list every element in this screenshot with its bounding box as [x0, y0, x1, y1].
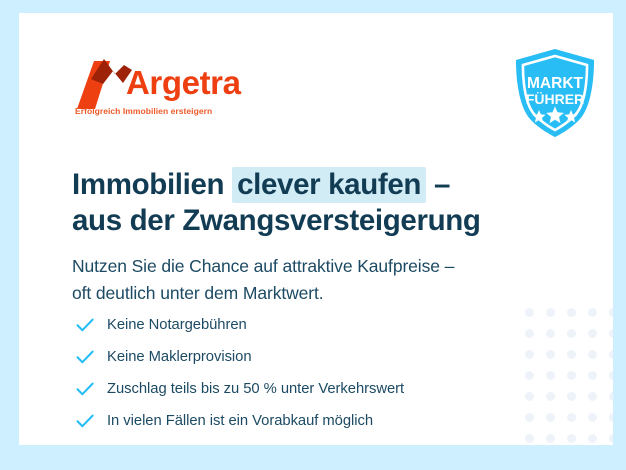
- list-item: Zuschlag teils bis zu 50 % unter Verkehr…: [74, 373, 534, 405]
- headline-line-2: aus der Zwangsversteigerung: [72, 203, 552, 239]
- dot-grid-decoration: [525, 308, 613, 445]
- decoration-dot: [609, 329, 613, 338]
- logo-tagline: Erfolgreich Immobilien ersteigern: [75, 106, 212, 116]
- logo-wordmark: Argetra: [126, 66, 241, 99]
- decoration-dot: [588, 308, 597, 317]
- decoration-dot: [567, 371, 576, 380]
- decoration-dot: [546, 392, 555, 401]
- decoration-dot: [588, 350, 597, 359]
- decoration-dot: [567, 329, 576, 338]
- decoration-dot: [567, 434, 576, 443]
- decoration-dot: [546, 413, 555, 422]
- list-item-label: Zuschlag teils bis zu 50 % unter Verkehr…: [107, 381, 404, 397]
- decoration-dot: [567, 350, 576, 359]
- promo-banner: Argetra Erfolgreich Immobilien ersteiger…: [0, 0, 626, 470]
- decoration-dot: [588, 434, 597, 443]
- decoration-dot: [609, 392, 613, 401]
- decoration-dot: [546, 308, 555, 317]
- list-item-label: Keine Maklerprovision: [107, 349, 252, 365]
- argetra-logo[interactable]: Argetra Erfolgreich Immobilien ersteiger…: [74, 57, 304, 119]
- list-item: Keine Notargebühren: [74, 309, 534, 341]
- subheadline: Nutzen Sie die Chance auf attraktive Kau…: [72, 253, 542, 307]
- decoration-dot: [588, 329, 597, 338]
- decoration-dot: [609, 350, 613, 359]
- list-item-label: In vielen Fällen ist ein Vorabkauf mögli…: [107, 413, 373, 429]
- decoration-dot: [546, 434, 555, 443]
- decoration-dot: [546, 350, 555, 359]
- list-item: In vielen Fällen ist ein Vorabkauf mögli…: [74, 405, 534, 437]
- check-icon: [74, 314, 96, 336]
- subheadline-line-2: oft deutlich unter dem Marktwert.: [72, 280, 542, 307]
- decoration-dot: [567, 413, 576, 422]
- market-leader-badge: MARKT FÜHRER: [508, 46, 602, 140]
- decoration-dot: [567, 308, 576, 317]
- check-icon: [74, 346, 96, 368]
- decoration-dot: [609, 434, 613, 443]
- decoration-dot: [609, 308, 613, 317]
- decoration-dot: [588, 371, 597, 380]
- headline-line-1: Immobilien clever kaufen –: [72, 167, 552, 203]
- decoration-dot: [567, 392, 576, 401]
- headline-highlight: clever kaufen: [232, 167, 426, 203]
- list-item: Keine Maklerprovision: [74, 341, 534, 373]
- banner-card: Argetra Erfolgreich Immobilien ersteiger…: [19, 13, 613, 445]
- badge-line1: MARKT: [527, 75, 583, 92]
- decoration-dot: [609, 371, 613, 380]
- headline: Immobilien clever kaufen – aus der Zwang…: [72, 167, 552, 239]
- check-icon: [74, 410, 96, 432]
- benefit-list: Keine Notargebühren Keine Maklerprovisio…: [74, 309, 534, 437]
- decoration-dot: [588, 392, 597, 401]
- decoration-dot: [546, 329, 555, 338]
- decoration-dot: [546, 371, 555, 380]
- decoration-dot: [609, 413, 613, 422]
- headline-line1-post: –: [426, 168, 450, 201]
- decoration-dot: [588, 413, 597, 422]
- badge-line2: FÜHRER: [526, 91, 584, 107]
- check-icon: [74, 378, 96, 400]
- list-item-label: Keine Notargebühren: [107, 317, 247, 333]
- subheadline-line-1: Nutzen Sie die Chance auf attraktive Kau…: [72, 253, 542, 280]
- headline-line1-pre: Immobilien: [72, 168, 232, 201]
